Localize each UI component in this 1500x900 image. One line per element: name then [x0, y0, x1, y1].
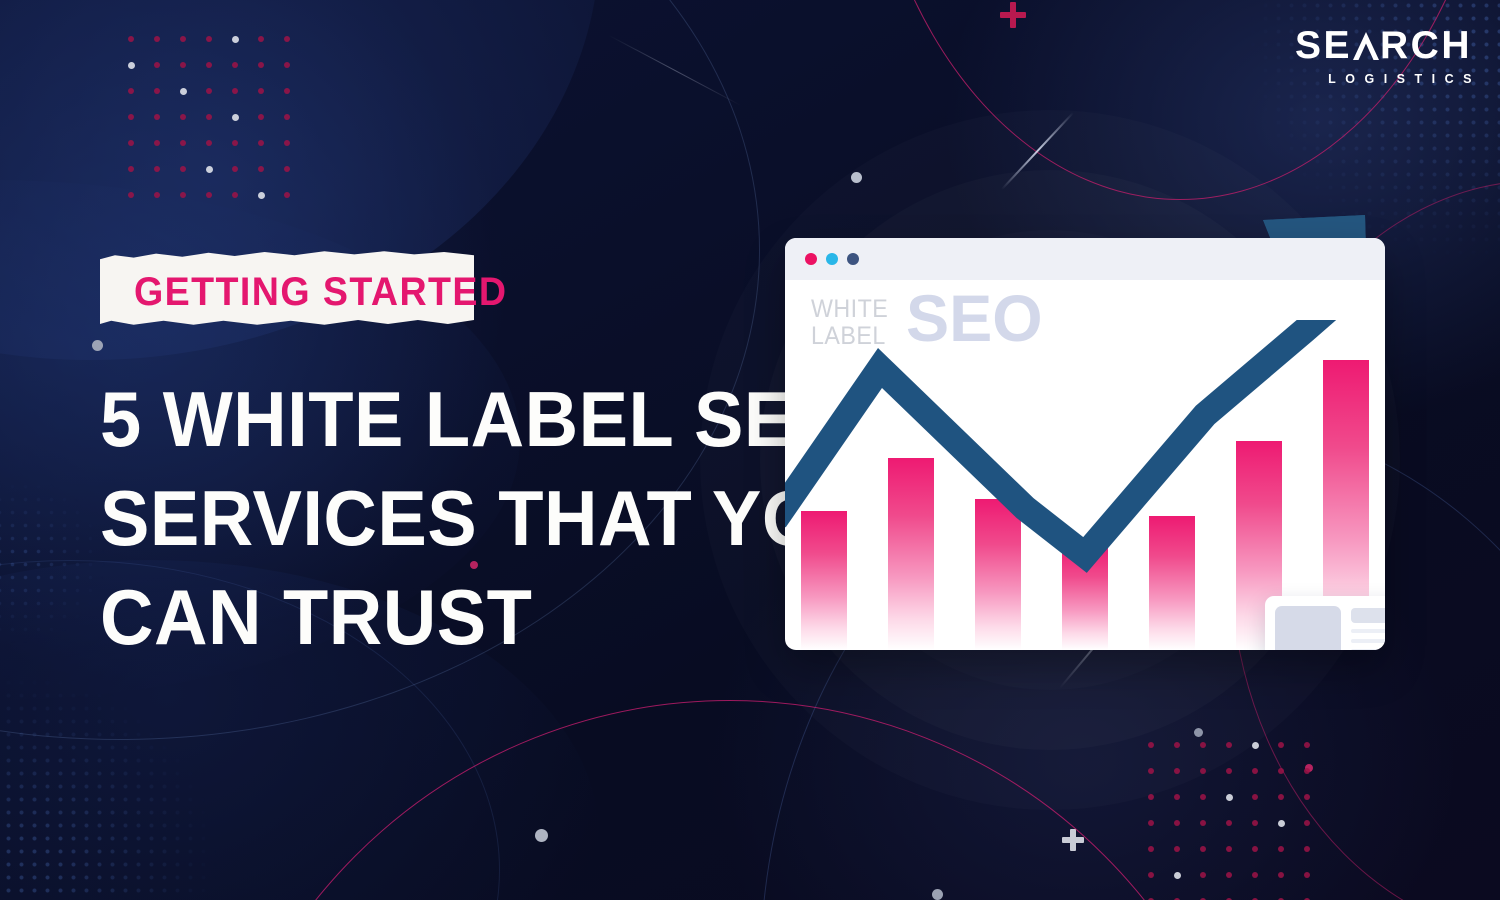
close-dot-icon[interactable]: [805, 253, 817, 265]
decorative-dot: [1304, 846, 1310, 852]
decorative-dot: [1278, 820, 1285, 827]
decorative-dot: [1252, 872, 1258, 878]
decorative-dot: [1200, 820, 1206, 826]
hero-banner: GETTING STARTED 5 WHITE LABEL SEO SERVIC…: [0, 0, 1500, 900]
decorative-dot: [1174, 846, 1180, 852]
decorative-dot: [1148, 794, 1154, 800]
logo-letter-c: C: [1411, 26, 1442, 65]
decorative-dot: [1226, 794, 1233, 801]
decorative-dot: [1252, 794, 1258, 800]
hero-text-column: GETTING STARTED 5 WHITE LABEL SEO SERVIC…: [0, 0, 740, 900]
card-heading-placeholder: [1351, 608, 1385, 623]
decorative-dot: [1148, 742, 1154, 748]
card-text-line: [1351, 629, 1385, 633]
decorative-dot: [1174, 872, 1181, 879]
decorative-dot: [1200, 742, 1206, 748]
maximize-dot-icon[interactable]: [847, 253, 859, 265]
decorative-dot: [1252, 742, 1259, 749]
decorative-dot: [1278, 846, 1284, 852]
decorative-dot: [1148, 768, 1154, 774]
logo-letter-e: E: [1323, 26, 1352, 65]
card-text-line: [1351, 639, 1385, 643]
plus-icon-top: [1000, 2, 1026, 28]
decorative-dot: [1148, 846, 1154, 852]
decorative-dot: [1304, 742, 1310, 748]
decorative-dot: [1304, 872, 1310, 878]
decorative-dot: [1174, 742, 1180, 748]
brand-logo[interactable]: S E R C H LOGISTICS: [1295, 26, 1472, 86]
browser-titlebar: [785, 238, 1385, 280]
decorative-dot: [1148, 820, 1154, 826]
headline-line-1: 5 WHITE LABEL SEO: [100, 370, 708, 469]
decorative-dot: [1252, 846, 1258, 852]
page-title: 5 WHITE LABEL SEO SERVICES THAT YOU CAN …: [100, 370, 740, 667]
browser-window: WHITE LABEL SEO: [785, 238, 1385, 650]
decorative-dot: [1174, 794, 1180, 800]
minimize-dot-icon[interactable]: [826, 253, 838, 265]
decorative-dot: [1304, 768, 1310, 774]
decorative-dot: [1278, 872, 1284, 878]
result-card[interactable]: [1265, 596, 1385, 650]
chart-bar: [975, 499, 1021, 650]
decorative-dot: [1200, 794, 1206, 800]
decorative-dot: [1252, 768, 1258, 774]
decorative-dot: [1304, 820, 1310, 826]
decorative-dot: [1304, 794, 1310, 800]
accent-dot-bottom-2: [932, 889, 943, 900]
decorative-dot: [1278, 768, 1284, 774]
dot-grid-bottom-right: [1148, 742, 1330, 900]
seo-chart-illustration: WHITE LABEL SEO: [740, 120, 1440, 720]
card-text-block: [1351, 606, 1385, 650]
decorative-dot: [1200, 768, 1206, 774]
chart-bar: [1149, 516, 1195, 650]
logo-tagline: LOGISTICS: [1295, 72, 1481, 86]
eyebrow-banner: GETTING STARTED: [100, 248, 474, 328]
decorative-dot: [1226, 742, 1232, 748]
logo-letter-r: R: [1380, 26, 1411, 65]
card-thumbnail: [1275, 606, 1341, 650]
logo-letter-h: H: [1441, 26, 1472, 65]
decorative-dot: [1148, 872, 1154, 878]
logo-wordmark: S E R C H: [1295, 26, 1472, 65]
headline-line-3: CAN TRUST: [100, 568, 708, 667]
chart-title-line-white: WHITE: [811, 296, 888, 323]
decorative-dot: [1252, 820, 1258, 826]
decorative-dot: [1226, 846, 1232, 852]
card-text-line: [1351, 649, 1385, 650]
decorative-dot: [1226, 872, 1232, 878]
plus-icon-bottom: [1062, 829, 1084, 851]
logo-letter-s: S: [1295, 26, 1324, 65]
chart-bar: [801, 511, 847, 650]
decorative-dot: [1174, 820, 1180, 826]
chart-bar: [888, 458, 934, 650]
decorative-dot: [1278, 794, 1284, 800]
eyebrow-label: GETTING STARTED: [134, 270, 507, 315]
decorative-dot: [1226, 820, 1232, 826]
decorative-dot: [1226, 768, 1232, 774]
accent-dot-pink-right: [1305, 764, 1313, 772]
decorative-dot: [1200, 846, 1206, 852]
headline-line-2: SERVICES THAT YOU: [100, 469, 708, 568]
chart-bar: [1062, 545, 1108, 650]
decorative-dot: [1278, 742, 1284, 748]
decorative-dot: [1174, 768, 1180, 774]
logo-letter-a-triangle-icon: [1353, 32, 1379, 60]
decorative-dot: [1200, 872, 1206, 878]
accent-dot-right: [1194, 728, 1203, 737]
